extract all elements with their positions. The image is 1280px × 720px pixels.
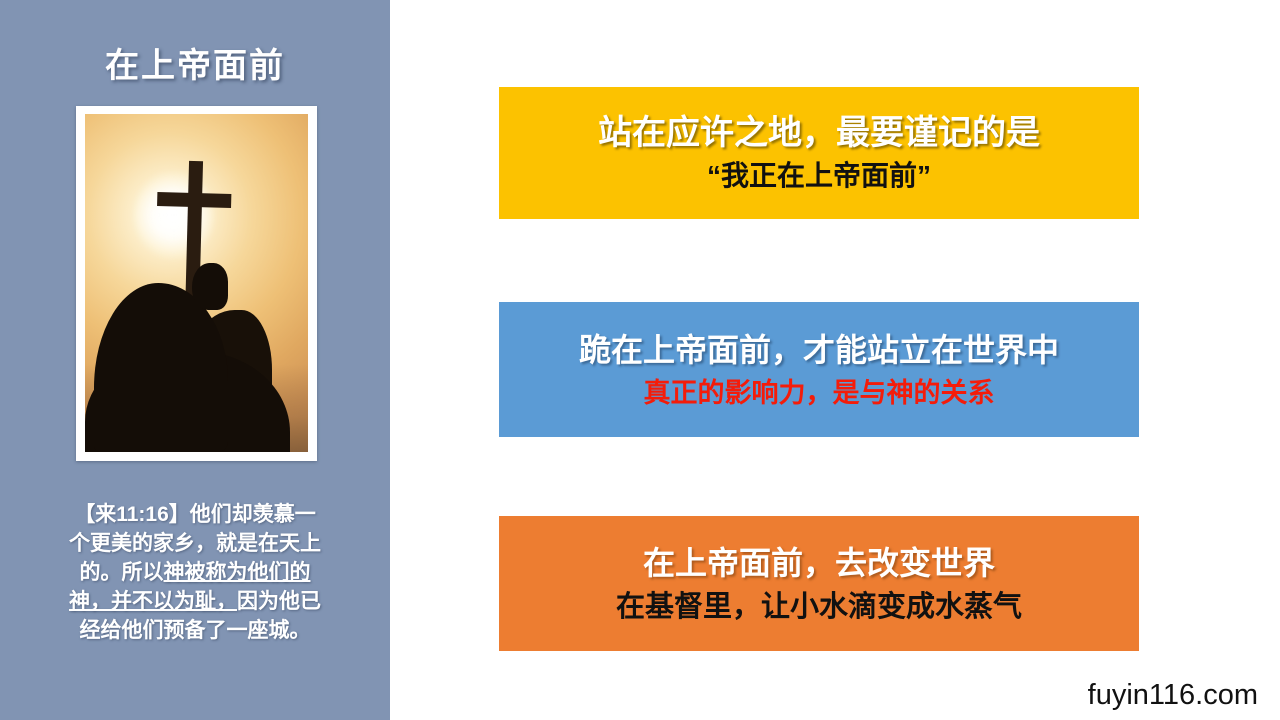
content-card-promise: 站在应许之地，最要谨记的是 “我正在上帝面前”: [499, 87, 1139, 219]
card-blue-line-2: 真正的影响力，是与神的关系: [499, 373, 1139, 413]
content-card-change-world: 在上帝面前，去改变世界 在基督里，让小水滴变成水蒸气: [499, 516, 1139, 651]
scripture-line-4-underlined: 神，并不以为耻，: [69, 590, 237, 613]
site-watermark: fuyin116.com: [1088, 678, 1258, 712]
card-amber-line-1: 站在应许之地，最要谨记的是: [499, 110, 1139, 156]
card-blue-line-1: 跪在上帝面前，才能站立在世界中: [499, 327, 1139, 373]
scripture-quote: 【来11:16】他们却羡慕一 个更美的家乡，就是在天上 的。所以神被称为他们的 …: [26, 500, 364, 645]
photo-frame: [76, 106, 317, 461]
card-orange-line-2: 在基督里，让小水滴变成水蒸气: [499, 586, 1139, 628]
scripture-line-4-plain: 因为他已: [237, 590, 321, 613]
scripture-line-1: 【来11:16】他们却羡慕一: [74, 503, 316, 526]
content-card-kneel: 跪在上帝面前，才能站立在世界中 真正的影响力，是与神的关系: [499, 302, 1139, 437]
silhouette-hand: [192, 263, 228, 310]
cross-sunset-silhouette-image: [85, 114, 308, 452]
scripture-line-3-underlined: 神被称为他们的: [164, 561, 311, 584]
scripture-line-2: 个更美的家乡，就是在天上: [69, 532, 321, 555]
page-title: 在上帝面前: [0, 44, 390, 88]
scripture-line-5: 经给他们预备了一座城。: [80, 619, 311, 642]
card-orange-line-1: 在上帝面前，去改变世界: [499, 540, 1139, 586]
card-amber-line-2: “我正在上帝面前”: [499, 156, 1139, 196]
scripture-line-3-plain: 的。所以: [80, 561, 164, 584]
sidebar-panel: 在上帝面前 【来11:16】他们却羡慕一 个更美的家乡，就是在天上 的。所以神被…: [0, 0, 390, 720]
